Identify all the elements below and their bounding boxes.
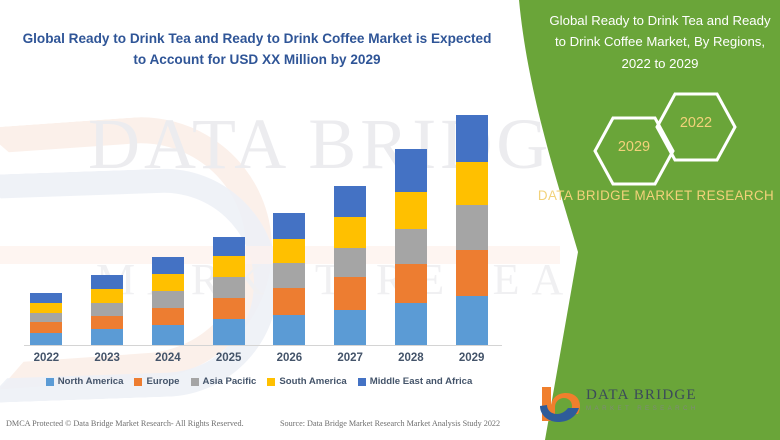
bar-column bbox=[259, 100, 320, 345]
bar-segment bbox=[152, 274, 184, 291]
stacked-bar bbox=[334, 186, 366, 345]
legend-label: South America bbox=[279, 376, 346, 387]
bar-segment bbox=[91, 303, 123, 316]
bar-segment bbox=[213, 256, 245, 277]
bar-segment bbox=[152, 308, 184, 326]
legend-label: Asia Pacific bbox=[203, 376, 257, 387]
bar-segment bbox=[273, 263, 305, 288]
x-axis-labels: 20222023202420252026202720282029 bbox=[16, 352, 502, 364]
bar-column bbox=[198, 100, 259, 345]
bar-segment bbox=[30, 313, 62, 323]
bar-segment bbox=[456, 250, 488, 296]
stacked-bar bbox=[456, 115, 488, 345]
legend-item[interactable]: Middle East and Africa bbox=[358, 376, 473, 387]
footer: DMCA Protected © Data Bridge Market Rese… bbox=[0, 414, 520, 440]
bar-group bbox=[16, 100, 502, 345]
bar-segment bbox=[91, 329, 123, 345]
bar-column bbox=[77, 100, 138, 345]
bar-segment bbox=[30, 293, 62, 303]
bar-segment bbox=[395, 192, 427, 229]
legend-swatch-icon bbox=[191, 378, 199, 386]
bar-segment bbox=[30, 303, 62, 313]
logo-name: DATA BRIDGE bbox=[586, 387, 699, 404]
bar-segment bbox=[334, 310, 366, 345]
bar-segment bbox=[273, 288, 305, 315]
bar-column bbox=[16, 100, 77, 345]
x-axis-line bbox=[24, 345, 502, 346]
bar-segment bbox=[456, 205, 488, 249]
bar-segment bbox=[334, 186, 366, 217]
x-axis-tick-label: 2023 bbox=[77, 352, 138, 364]
chart-title: Global Ready to Drink Tea and Ready to D… bbox=[18, 28, 496, 70]
x-axis-tick-label: 2025 bbox=[198, 352, 259, 364]
bar-segment bbox=[334, 248, 366, 278]
bar-segment bbox=[152, 257, 184, 274]
footer-source: Source: Data Bridge Market Research Mark… bbox=[280, 419, 500, 428]
bar-segment bbox=[91, 275, 123, 289]
bar-segment bbox=[213, 277, 245, 298]
legend-item[interactable]: North America bbox=[46, 376, 124, 387]
bar-segment bbox=[273, 213, 305, 239]
x-axis-tick-label: 2026 bbox=[259, 352, 320, 364]
stacked-bar bbox=[91, 275, 123, 345]
bar-column bbox=[441, 100, 502, 345]
x-axis-tick-label: 2022 bbox=[16, 352, 77, 364]
bar-segment bbox=[152, 325, 184, 345]
bar-segment bbox=[334, 217, 366, 248]
bar-segment bbox=[213, 298, 245, 320]
bar-segment bbox=[213, 319, 245, 345]
x-axis-tick-label: 2028 bbox=[381, 352, 442, 364]
chart-plot-area bbox=[16, 100, 502, 346]
bar-segment bbox=[395, 303, 427, 345]
legend-item[interactable]: Europe bbox=[134, 376, 179, 387]
legend-label: North America bbox=[58, 376, 124, 387]
bar-column bbox=[320, 100, 381, 345]
bar-segment bbox=[395, 229, 427, 264]
bar-segment bbox=[456, 115, 488, 162]
bar-segment bbox=[91, 316, 123, 330]
stacked-bar bbox=[395, 149, 427, 345]
bar-segment bbox=[30, 333, 62, 345]
x-axis-tick-label: 2029 bbox=[441, 352, 502, 364]
data-bridge-b-icon bbox=[538, 384, 582, 424]
hexagon-group: 2029 2022 bbox=[592, 92, 772, 184]
hexagon-2022-label: 2022 bbox=[654, 115, 738, 131]
stacked-bar bbox=[152, 257, 184, 345]
bar-segment bbox=[273, 239, 305, 264]
bar-segment bbox=[456, 162, 488, 205]
bar-column bbox=[138, 100, 199, 345]
bar-segment bbox=[395, 149, 427, 191]
company-logo: DATA BRIDGE MARKET RESEARCH bbox=[538, 384, 748, 426]
bar-segment bbox=[213, 237, 245, 257]
stacked-bar bbox=[30, 293, 62, 345]
legend-label: Middle East and Africa bbox=[370, 376, 473, 387]
chart-legend: North AmericaEuropeAsia PacificSouth Ame… bbox=[16, 376, 502, 387]
hexagon-2022: 2022 bbox=[654, 90, 738, 164]
bar-segment bbox=[91, 289, 123, 303]
panel-title: Global Ready to Drink Tea and Ready to D… bbox=[546, 10, 774, 74]
stacked-bar bbox=[213, 237, 245, 345]
footer-copyright: DMCA Protected © Data Bridge Market Rese… bbox=[6, 419, 244, 428]
legend-label: Europe bbox=[146, 376, 179, 387]
bar-segment bbox=[152, 291, 184, 308]
bar-segment bbox=[334, 277, 366, 309]
stacked-bar bbox=[273, 213, 305, 345]
legend-swatch-icon bbox=[358, 378, 366, 386]
bar-segment bbox=[456, 296, 488, 345]
bar-segment bbox=[30, 322, 62, 333]
panel-brand-text: DATA BRIDGE MARKET RESEARCH bbox=[534, 186, 778, 207]
legend-item[interactable]: Asia Pacific bbox=[191, 376, 257, 387]
bar-segment bbox=[273, 315, 305, 346]
legend-swatch-icon bbox=[46, 378, 54, 386]
logo-text: DATA BRIDGE MARKET RESEARCH bbox=[586, 387, 699, 412]
bar-column bbox=[381, 100, 442, 345]
logo-tagline: MARKET RESEARCH bbox=[586, 405, 699, 412]
legend-swatch-icon bbox=[267, 378, 275, 386]
x-axis-tick-label: 2024 bbox=[138, 352, 199, 364]
legend-item[interactable]: South America bbox=[267, 376, 346, 387]
x-axis-tick-label: 2027 bbox=[320, 352, 381, 364]
infographic-root: DATA BRIDGE MARKET RESEARCH Global Ready… bbox=[0, 0, 780, 440]
bar-segment bbox=[395, 264, 427, 302]
legend-swatch-icon bbox=[134, 378, 142, 386]
